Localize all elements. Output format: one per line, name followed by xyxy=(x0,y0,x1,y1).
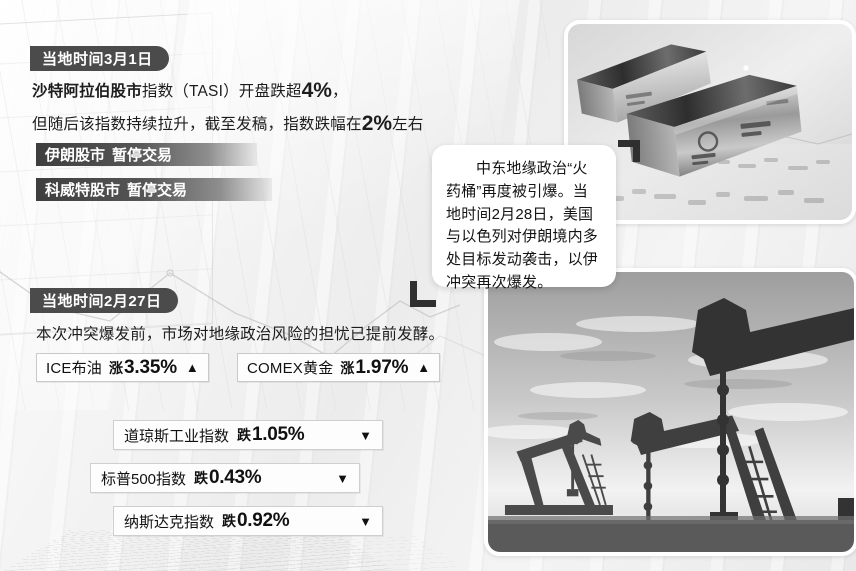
tasi-drop-value: 4% xyxy=(302,79,332,102)
halt-market-name: 伊朗股市 xyxy=(45,144,105,165)
infographic-canvas: 当地时间3月1日 沙特阿拉伯股市指数（TASI）开盘跌超4%， 但随后该指数持续… xyxy=(0,0,856,571)
tasi-current-drop-value: 2% xyxy=(362,112,392,135)
index-label: 标普500指数 xyxy=(101,468,186,489)
index-label: 纳斯达克指数 xyxy=(124,511,214,532)
index-direction: 跌 xyxy=(222,511,236,531)
corner-bracket-bottom-left-icon xyxy=(410,281,436,307)
date-badge-february-27: 当地时间2月27日 xyxy=(30,288,178,313)
halt-badge-iran: 伊朗股市 暂停交易 xyxy=(36,143,257,166)
tasi-recovery-tail: 左右 xyxy=(392,116,423,133)
corner-bracket-top-right-icon xyxy=(614,140,640,166)
index-value: 0.43% xyxy=(209,467,261,489)
tasi-market-name: 沙特阿拉伯股市 xyxy=(32,83,142,100)
tasi-statement-tail: ， xyxy=(332,83,348,100)
up-arrow-icon: ▲ xyxy=(417,360,430,375)
index-value: 1.05% xyxy=(252,424,304,446)
commodity-pill-ice-brent: ICE布油 涨 3.35% ▲ xyxy=(36,353,209,382)
oil-pumpjacks-photo xyxy=(484,268,856,556)
tasi-recovery-text: 但随后该指数持续拉升，截至发稿，指数跌幅在 xyxy=(32,116,362,133)
commodity-direction: 涨 xyxy=(340,358,354,378)
index-pill-dow-jones: 道琼斯工业指数 跌 1.05% ▼ xyxy=(113,420,383,450)
index-label: 道琼斯工业指数 xyxy=(124,425,229,446)
index-direction: 跌 xyxy=(194,468,208,488)
halt-status: 暂停交易 xyxy=(112,144,172,165)
halt-status: 暂停交易 xyxy=(127,179,187,200)
commodity-value: 3.35% xyxy=(124,357,177,379)
pre-conflict-statement: 本次冲突爆发前，市场对地缘政治风险的担忧已提前发酵。 xyxy=(36,322,444,344)
index-value: 0.92% xyxy=(237,510,289,532)
tasi-statement-line-2: 但随后该指数持续拉升，截至发稿，指数跌幅在2%左右 xyxy=(32,112,423,136)
tasi-statement-line-1: 沙特阿拉伯股市指数（TASI）开盘跌超4%， xyxy=(32,79,348,103)
date-badge-march-1: 当地时间3月1日 xyxy=(30,46,169,71)
commodity-pill-comex-gold: COMEX黄金 涨 1.97% ▲ xyxy=(237,353,440,382)
halt-badge-kuwait: 科威特股市 暂停交易 xyxy=(36,178,272,201)
down-arrow-icon: ▼ xyxy=(359,428,372,443)
commentary-bubble: 中东地缘政治“火药桶”再度被引爆。当地时间2月28日，美国与以色列对伊朗境内多处… xyxy=(432,145,616,287)
index-direction: 跌 xyxy=(237,425,251,445)
commentary-text: 中东地缘政治“火药桶”再度被引爆。当地时间2月28日，美国与以色列对伊朗境内多处… xyxy=(446,158,602,295)
halt-market-name: 科威特股市 xyxy=(45,179,120,200)
up-arrow-icon: ▲ xyxy=(186,360,199,375)
commodity-direction: 涨 xyxy=(109,358,123,378)
index-pill-sp500: 标普500指数 跌 0.43% ▼ xyxy=(90,463,360,493)
commodity-label: ICE布油 xyxy=(46,357,102,378)
down-arrow-icon: ▼ xyxy=(336,471,349,486)
down-arrow-icon: ▼ xyxy=(359,514,372,529)
commodity-value: 1.97% xyxy=(355,357,408,379)
index-pill-nasdaq: 纳斯达克指数 跌 0.92% ▼ xyxy=(113,506,383,536)
tasi-statement-mid: 指数（TASI）开盘跌超 xyxy=(142,83,302,100)
commodity-label: COMEX黄金 xyxy=(247,357,333,378)
